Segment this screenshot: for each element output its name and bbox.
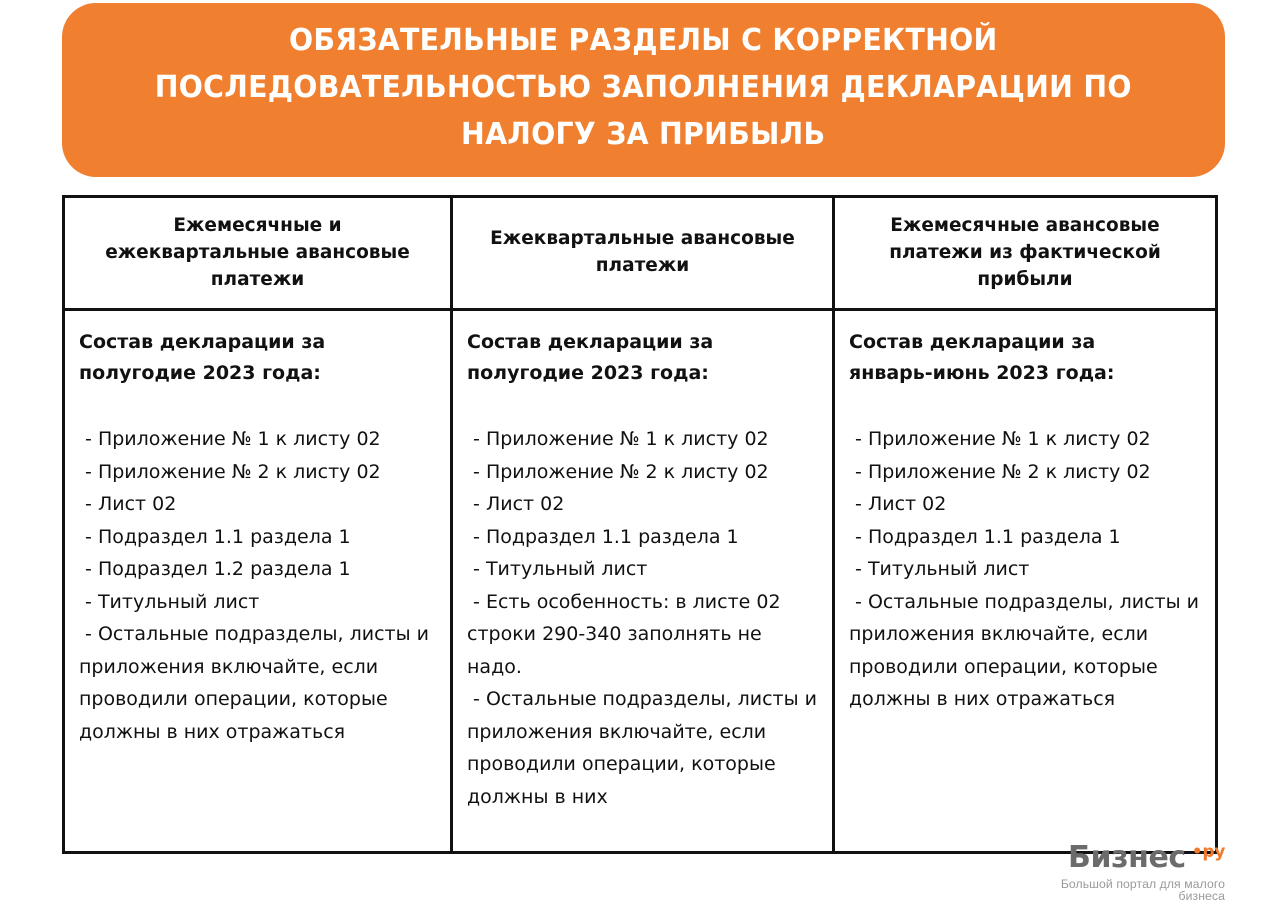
table-cell-actual-profit: Состав декларации за январь-июнь 2023 го… — [835, 311, 1215, 851]
comparison-table: Ежемесячные и ежеквартальные авансовые п… — [62, 195, 1218, 854]
title-banner: ОБЯЗАТЕЛЬНЫЕ РАЗДЕЛЫ С КОРРЕКТНОЙ ПОСЛЕД… — [62, 3, 1225, 177]
table-header-label: Ежемесячные авансовые платежи из фактиче… — [859, 212, 1191, 293]
cell-item-list: - Приложение № 1 к листу 02 - Приложение… — [79, 423, 436, 748]
logo-name: Бизнес — [1068, 843, 1186, 873]
list-item: - Остальные подразделы, листы и приложен… — [467, 683, 818, 813]
table-body-row: Состав декларации за полугодие 2023 года… — [65, 311, 1215, 851]
table-header-cell-actual-profit: Ежемесячные авансовые платежи из фактиче… — [835, 198, 1215, 308]
list-item: - Лист 02 — [467, 488, 818, 521]
cell-item-list: - Приложение № 1 к листу 02 - Приложение… — [849, 423, 1201, 716]
table-header-label: Ежеквартальные авансовые платежи — [477, 225, 808, 279]
brand-logo: Бизнес •ру Большой портал для малого биз… — [1013, 843, 1225, 902]
list-item: - Приложение № 1 к листу 02 — [79, 423, 436, 456]
list-item: - Приложение № 2 к листу 02 — [79, 456, 436, 489]
list-item: - Титульный лист — [79, 586, 436, 619]
table-header-label: Ежемесячные и ежеквартальные авансовые п… — [89, 212, 426, 293]
list-item: - Титульный лист — [467, 553, 818, 586]
logo-tagline: Большой портал для малого бизнеса — [1013, 878, 1225, 902]
table-header-row: Ежемесячные и ежеквартальные авансовые п… — [65, 198, 1215, 311]
list-item: - Подраздел 1.1 раздела 1 — [79, 521, 436, 554]
page-title: ОБЯЗАТЕЛЬНЫЕ РАЗДЕЛЫ С КОРРЕКТНОЙ ПОСЛЕД… — [155, 17, 1132, 158]
list-item: - Есть особенность: в листе 02 строки 29… — [467, 586, 818, 684]
cell-item-list: - Приложение № 1 к листу 02 - Приложение… — [467, 423, 818, 813]
cell-title: Состав декларации за полугодие 2023 года… — [79, 327, 436, 389]
list-item: - Титульный лист — [849, 553, 1201, 586]
list-item: - Подраздел 1.2 раздела 1 — [79, 553, 436, 586]
logo-domain: •ру — [1192, 844, 1225, 861]
list-item: - Подраздел 1.1 раздела 1 — [467, 521, 818, 554]
list-item: - Остальные подразделы, листы и приложен… — [79, 618, 436, 748]
table-header-cell-quarterly: Ежеквартальные авансовые платежи — [450, 198, 835, 308]
table-header-cell-monthly-quarterly: Ежемесячные и ежеквартальные авансовые п… — [65, 198, 450, 308]
list-item: - Лист 02 — [849, 488, 1201, 521]
list-item: - Приложение № 1 к листу 02 — [849, 423, 1201, 456]
list-item: - Остальные подразделы, листы и приложен… — [849, 586, 1201, 716]
list-item: - Приложение № 1 к листу 02 — [467, 423, 818, 456]
logo-wordmark: Бизнес •ру — [1013, 843, 1225, 873]
cell-title: Состав декларации за полугодие 2023 года… — [467, 327, 818, 389]
list-item: - Приложение № 2 к листу 02 — [467, 456, 818, 489]
cell-title: Состав декларации за январь-июнь 2023 го… — [849, 327, 1201, 389]
list-item: - Лист 02 — [79, 488, 436, 521]
list-item: - Приложение № 2 к листу 02 — [849, 456, 1201, 489]
table-cell-quarterly: Состав декларации за полугодие 2023 года… — [450, 311, 835, 851]
list-item: - Подраздел 1.1 раздела 1 — [849, 521, 1201, 554]
table-cell-monthly-quarterly: Состав декларации за полугодие 2023 года… — [65, 311, 450, 851]
